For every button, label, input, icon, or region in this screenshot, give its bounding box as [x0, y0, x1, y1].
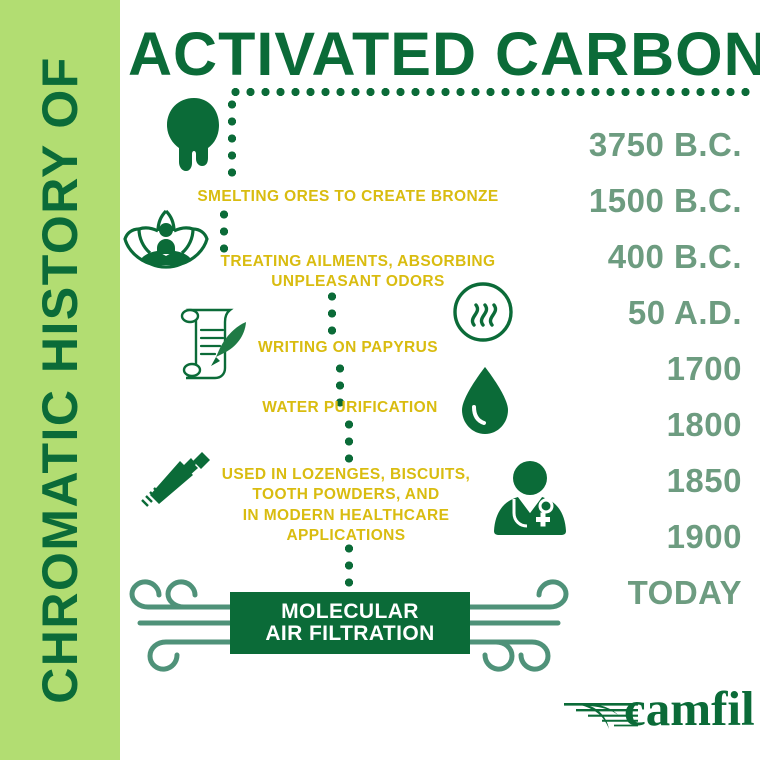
dotted-connector: [345, 540, 353, 592]
page-title: ACTIVATED CARBON: [128, 24, 760, 85]
date-item: 1500 B.C.: [472, 184, 742, 217]
dotted-connector: [345, 416, 353, 466]
dotted-connector: [328, 288, 336, 340]
title-dotted-rule: [228, 88, 753, 96]
camfil-logo: camfil: [562, 688, 747, 744]
date-item: 1900: [472, 520, 742, 553]
date-item: 1850: [472, 464, 742, 497]
dotted-connector: [220, 206, 228, 258]
event-label: WATER PURIFICATION: [248, 398, 452, 418]
molecular-air-filtration-text: MOLECULAR AIR FILTRATION: [265, 601, 434, 646]
date-item: 50 A.D.: [472, 296, 742, 329]
wind-swirl-icon: [118, 578, 243, 674]
infographic-poster: CHROMATIC HISTORY OF ACTIVATED CARBON: [0, 0, 760, 760]
side-title-text: CHROMATIC HISTORY OF: [31, 56, 89, 704]
wind-swirl-icon: [455, 578, 580, 674]
scroll-quill-icon: [170, 300, 252, 380]
event-label: WRITING ON PAPYRUS: [248, 338, 448, 358]
event-label: USED IN LOZENGES, BISCUITS, TOOTH POWDER…: [208, 465, 484, 547]
toothpaste-tube-icon: [140, 450, 212, 512]
timeline-dates-column: 3750 B.C. 1500 B.C. 400 B.C. 50 A.D. 170…: [472, 128, 742, 632]
date-item: 1800: [472, 408, 742, 441]
date-item: 400 B.C.: [472, 240, 742, 273]
date-item: 3750 B.C.: [472, 128, 742, 161]
event-label: TREATING AILMENTS, ABSORBING UNPLEASANT …: [200, 252, 516, 293]
lotus-meditation-icon: [123, 203, 209, 277]
date-item: 1700: [472, 352, 742, 385]
camfil-wordmark: camfil: [624, 684, 755, 733]
event-label: SMELTING ORES TO CREATE BRONZE: [178, 187, 518, 207]
dotted-connector: [228, 96, 236, 184]
molten-blob-icon: [163, 96, 225, 182]
vertical-side-title: CHROMATIC HISTORY OF: [0, 0, 120, 760]
molecular-air-filtration-box: MOLECULAR AIR FILTRATION: [230, 592, 470, 654]
